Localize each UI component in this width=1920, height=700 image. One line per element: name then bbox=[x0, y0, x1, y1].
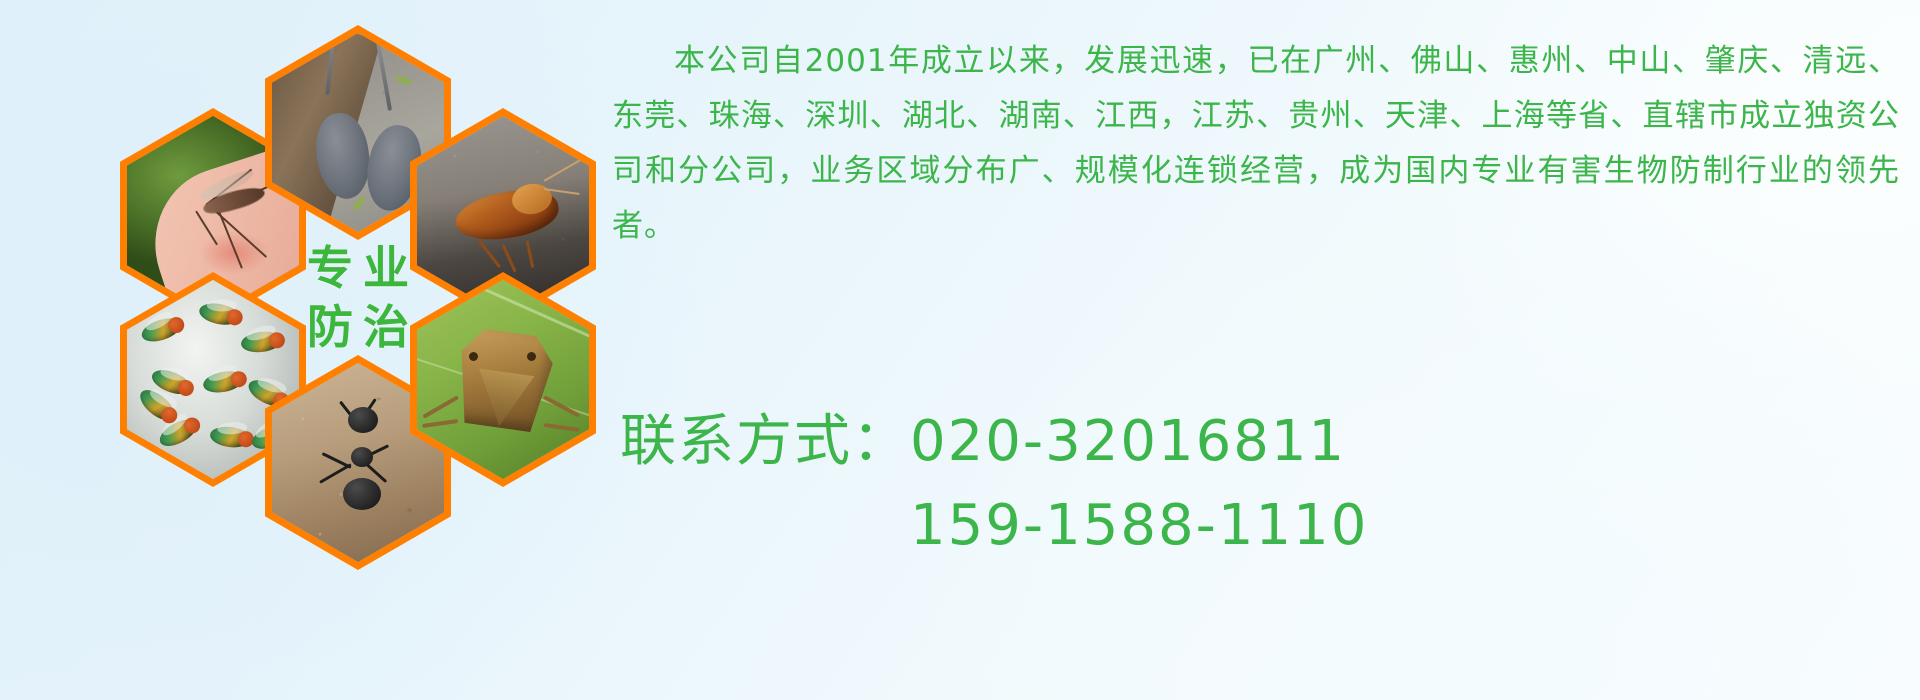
contact-block: 联系方式：020-32016811 159-1588-1110 bbox=[620, 400, 1910, 568]
company-intro-paragraph: 本公司自2001年成立以来，发展迅速，已在广州、佛山、惠州、中山、肇庆、清远、东… bbox=[612, 34, 1900, 254]
ant-gaster bbox=[343, 478, 381, 510]
honeycomb-gallery: 专业 防治 bbox=[80, 0, 600, 580]
center-label-line-1: 专业 bbox=[297, 244, 419, 292]
contact-line-landline[interactable]: 联系方式：020-32016811 bbox=[620, 400, 1910, 484]
contact-label: 联系方式： bbox=[620, 409, 910, 474]
bug-leg-icon bbox=[544, 423, 580, 432]
bug-spot bbox=[527, 352, 536, 361]
fly-icon bbox=[208, 425, 250, 450]
bug-spot bbox=[469, 352, 478, 361]
fly-icon bbox=[201, 368, 244, 395]
contact-phone-mobile: 159-1588-1110 bbox=[910, 493, 1368, 558]
company-intro: 本公司自2001年成立以来，发展迅速，已在广州、佛山、惠州、中山、肇庆、清远、东… bbox=[612, 34, 1900, 254]
fly-icon bbox=[198, 300, 241, 328]
promo-banner: 专业 防治 本公司自2001年成立以来，发展迅速，已在广州、佛山、惠州、中山、肇… bbox=[0, 0, 1920, 700]
bug-leg-icon bbox=[543, 396, 580, 418]
center-label-line-2: 防治 bbox=[297, 303, 419, 351]
contact-line-mobile[interactable]: 159-1588-1110 bbox=[620, 484, 1910, 568]
fly-icon bbox=[139, 314, 183, 345]
ant-head bbox=[348, 407, 378, 433]
bug-leg-icon bbox=[422, 419, 458, 428]
honeycomb-center-label: 专业 防治 bbox=[265, 190, 451, 405]
ant-thorax bbox=[351, 447, 373, 467]
contact-phone-landline: 020-32016811 bbox=[910, 409, 1346, 474]
